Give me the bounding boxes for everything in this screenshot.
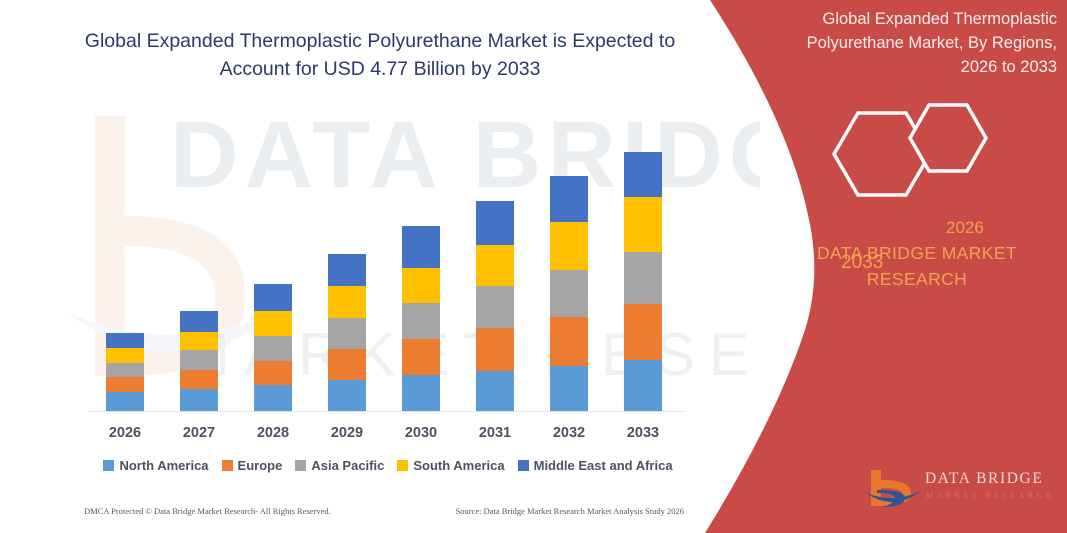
- bar-segment[interactable]: [402, 339, 440, 375]
- legend-swatch-icon: [103, 460, 114, 471]
- bar-segment[interactable]: [624, 152, 662, 197]
- bar-segment[interactable]: [106, 333, 144, 348]
- footer-source: Source: Data Bridge Market Research Mark…: [455, 506, 684, 516]
- x-tick-2032: 2032: [534, 425, 604, 441]
- brand-panel-content: Global Expanded Thermoplastic Polyuretha…: [680, 0, 1067, 533]
- brand-panel: Global Expanded Thermoplastic Polyuretha…: [680, 0, 1067, 533]
- bar-segment[interactable]: [624, 252, 662, 304]
- bar-segment[interactable]: [106, 363, 144, 377]
- bar-segment[interactable]: [476, 286, 514, 328]
- bar-2032[interactable]: [550, 176, 588, 412]
- bar-segment[interactable]: [254, 361, 292, 385]
- bar-segment[interactable]: [106, 377, 144, 392]
- bar-2026[interactable]: [106, 333, 144, 412]
- x-axis-tick-labels: 20262027202820292030203120322033: [88, 422, 680, 448]
- plot-area: [88, 120, 680, 412]
- x-tick-2029: 2029: [312, 425, 382, 441]
- bar-2029[interactable]: [328, 254, 366, 412]
- legend-label: Asia Pacific: [311, 458, 384, 473]
- stacked-bar-chart: 20262027202820292030203120322033: [0, 0, 760, 533]
- legend-item[interactable]: North America: [103, 458, 208, 473]
- x-tick-2026: 2026: [90, 425, 160, 441]
- bar-segment[interactable]: [402, 375, 440, 412]
- legend-item[interactable]: Asia Pacific: [295, 458, 384, 473]
- chart-legend: North AmericaEuropeAsia PacificSouth Ame…: [96, 455, 680, 475]
- logo-title: DATA BRIDGE: [925, 470, 1043, 488]
- x-tick-2028: 2028: [238, 425, 308, 441]
- bar-segment[interactable]: [550, 176, 588, 222]
- legend-label: South America: [413, 458, 504, 473]
- data-bridge-b-icon: [865, 466, 923, 512]
- bar-segment[interactable]: [180, 389, 218, 412]
- bar-segment[interactable]: [402, 303, 440, 339]
- bar-segment[interactable]: [550, 317, 588, 366]
- bar-segment[interactable]: [476, 201, 514, 245]
- x-tick-2033: 2033: [608, 425, 678, 441]
- bar-2028[interactable]: [254, 284, 292, 412]
- bar-segment[interactable]: [328, 349, 366, 380]
- bar-segment[interactable]: [328, 318, 366, 349]
- legend-label: Middle East and Africa: [534, 458, 673, 473]
- legend-item[interactable]: Middle East and Africa: [518, 458, 673, 473]
- bar-2031[interactable]: [476, 201, 514, 412]
- hexagon-2026-label: 2026: [946, 218, 984, 238]
- bar-segment[interactable]: [402, 226, 440, 268]
- footer: DMCA Protected © Data Bridge Market Rese…: [84, 506, 684, 516]
- bar-segment[interactable]: [476, 245, 514, 286]
- hexagon-outline-icons: [800, 92, 1067, 214]
- company-logo: DATA BRIDGE MARKET RESEARCH: [865, 466, 1055, 512]
- chart-panel: DATA BRIDGE MARKET RESEARCH Global Expan…: [0, 0, 760, 533]
- bar-segment[interactable]: [402, 268, 440, 303]
- bar-segment[interactable]: [624, 304, 662, 360]
- bar-segment[interactable]: [328, 286, 366, 318]
- bar-2030[interactable]: [402, 226, 440, 412]
- x-tick-2031: 2031: [460, 425, 530, 441]
- bar-segment[interactable]: [476, 328, 514, 371]
- bar-segment[interactable]: [254, 311, 292, 336]
- legend-item[interactable]: South America: [397, 458, 504, 473]
- legend-label: Europe: [238, 458, 283, 473]
- logo-subtitle: MARKET RESEARCH: [926, 491, 1054, 500]
- bar-2027[interactable]: [180, 311, 218, 412]
- legend-swatch-icon: [295, 460, 306, 471]
- legend-swatch-icon: [518, 460, 529, 471]
- footer-copyright: DMCA Protected © Data Bridge Market Rese…: [84, 506, 331, 516]
- bar-segment[interactable]: [254, 385, 292, 412]
- hexagon-2026-icon: [910, 105, 986, 171]
- bar-segment[interactable]: [550, 222, 588, 270]
- legend-swatch-icon: [222, 460, 233, 471]
- bar-segment[interactable]: [180, 350, 218, 370]
- bar-segment[interactable]: [328, 380, 366, 412]
- brand-name: DATA BRIDGE MARKET RESEARCH: [777, 240, 1057, 293]
- bar-segment[interactable]: [180, 332, 218, 350]
- legend-item[interactable]: Europe: [222, 458, 283, 473]
- bar-segment[interactable]: [550, 366, 588, 412]
- bar-segment[interactable]: [624, 197, 662, 252]
- legend-swatch-icon: [397, 460, 408, 471]
- bar-segment[interactable]: [476, 371, 514, 412]
- bar-segment[interactable]: [254, 336, 292, 361]
- bar-segment[interactable]: [624, 360, 662, 412]
- x-axis-line: [88, 411, 684, 412]
- bar-segment[interactable]: [106, 392, 144, 412]
- x-tick-2030: 2030: [386, 425, 456, 441]
- bar-segment[interactable]: [550, 270, 588, 317]
- brand-panel-title: Global Expanded Thermoplastic Polyuretha…: [775, 8, 1057, 80]
- bar-2033[interactable]: [624, 152, 662, 412]
- bar-segment[interactable]: [180, 311, 218, 332]
- bar-segment[interactable]: [254, 284, 292, 311]
- bar-segment[interactable]: [180, 370, 218, 389]
- x-tick-2027: 2027: [164, 425, 234, 441]
- legend-label: North America: [119, 458, 208, 473]
- bar-segment[interactable]: [328, 254, 366, 286]
- hexagon-badges: 2033 2026: [800, 92, 1067, 214]
- bar-segment[interactable]: [106, 348, 144, 363]
